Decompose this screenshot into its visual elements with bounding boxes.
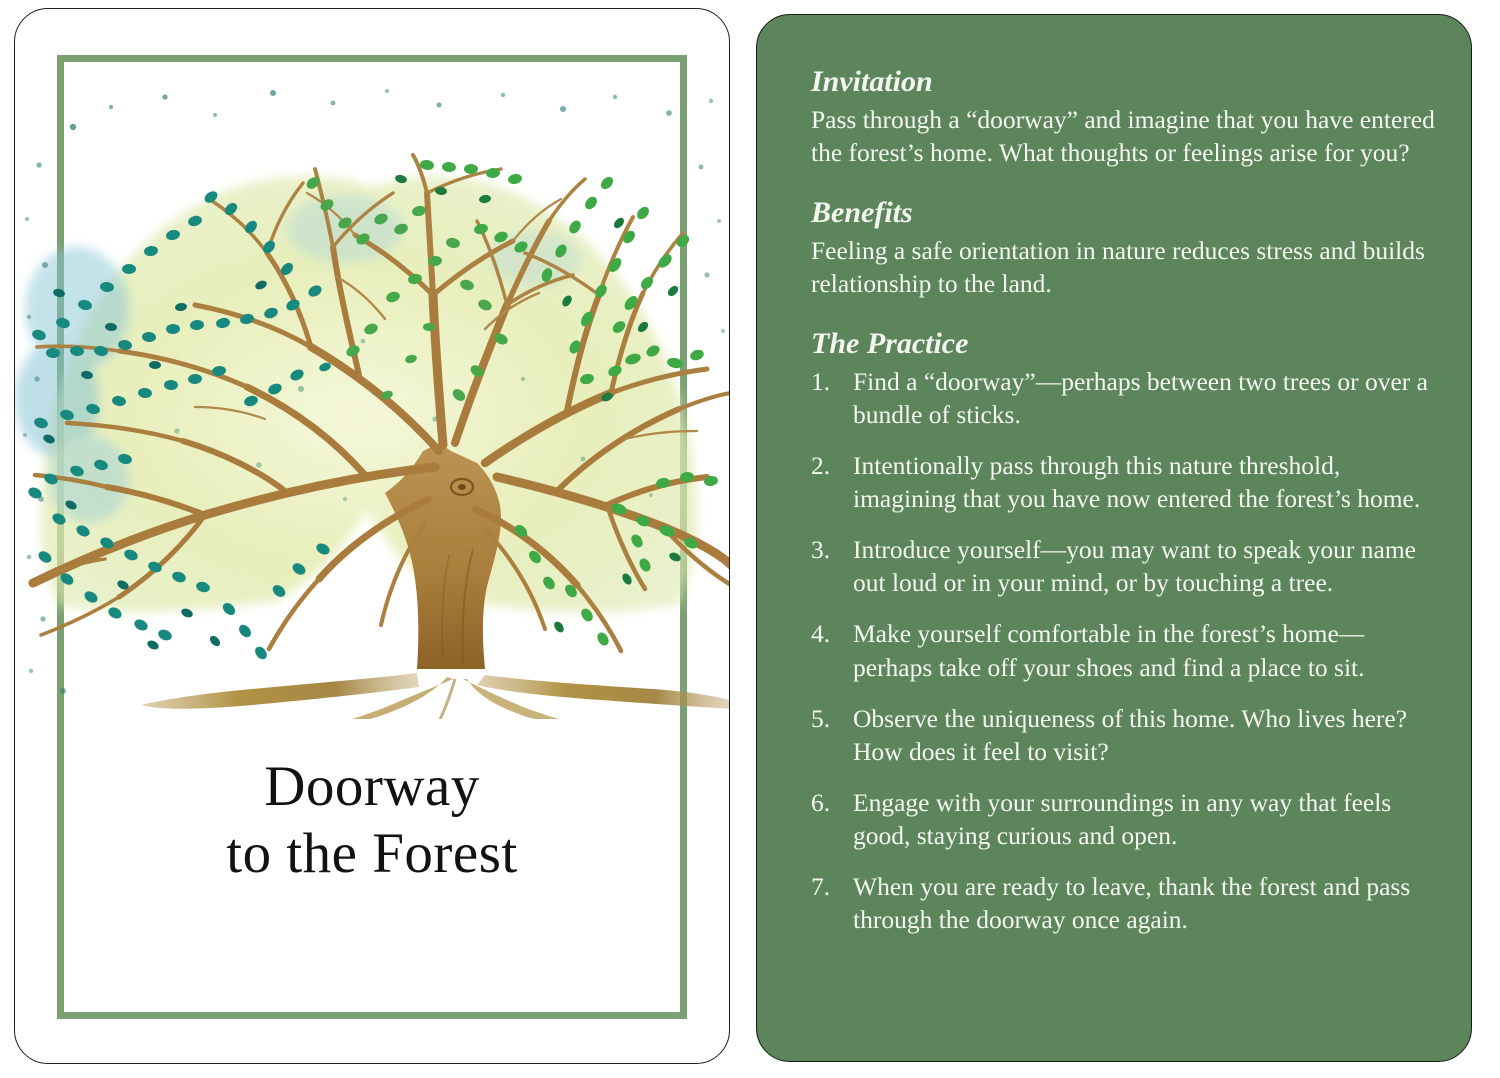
practice-step: 6.Engage with your surroundings in any w…	[811, 786, 1437, 852]
practice-step-text: When you are ready to leave, thank the f…	[853, 870, 1437, 936]
card-back: Invitation Pass through a “doorway” and …	[756, 14, 1472, 1062]
practice-step-number: 2.	[811, 449, 853, 515]
practice-step-text: Introduce yourself—you may want to speak…	[853, 533, 1437, 599]
section-heading-invitation: Invitation	[811, 65, 1437, 98]
section-invitation: Invitation Pass through a “doorway” and …	[811, 65, 1437, 170]
practice-step-number: 3.	[811, 533, 853, 599]
card-front: Doorway to the Forest	[14, 8, 730, 1064]
practice-steps-list: 1.Find a “doorway”—perhaps between two t…	[811, 365, 1437, 937]
card-title-line-1: Doorway	[15, 754, 729, 821]
practice-step: 7.When you are ready to leave, thank the…	[811, 870, 1437, 936]
section-benefits: Benefits Feeling a safe orientation in n…	[811, 196, 1437, 301]
practice-step: 5.Observe the uniqueness of this home. W…	[811, 702, 1437, 768]
practice-step: 2.Intentionally pass through this nature…	[811, 449, 1437, 515]
section-heading-benefits: Benefits	[811, 196, 1437, 229]
practice-step: 4.Make yourself comfortable in the fores…	[811, 617, 1437, 683]
practice-step: 3.Introduce yourself—you may want to spe…	[811, 533, 1437, 599]
watercolor-tree-illustration	[15, 79, 730, 719]
section-body-invitation: Pass through a “doorway” and imagine tha…	[811, 103, 1437, 170]
section-body-benefits: Feeling a safe orientation in nature red…	[811, 234, 1437, 301]
practice-step-text: Engage with your surroundings in any way…	[853, 786, 1437, 852]
card-title-line-2: to the Forest	[15, 821, 729, 888]
practice-step: 1.Find a “doorway”—perhaps between two t…	[811, 365, 1437, 431]
practice-step-text: Intentionally pass through this nature t…	[853, 449, 1437, 515]
section-heading-the-practice: The Practice	[811, 327, 1437, 360]
practice-step-text: Find a “doorway”—perhaps between two tre…	[853, 365, 1437, 431]
practice-step-number: 5.	[811, 702, 853, 768]
practice-step-number: 6.	[811, 786, 853, 852]
card-title: Doorway to the Forest	[15, 754, 729, 887]
practice-step-text: Make yourself comfortable in the forest’…	[853, 617, 1437, 683]
practice-step-text: Observe the uniqueness of this home. Who…	[853, 702, 1437, 768]
section-the-practice: The Practice 1.Find a “doorway”—perhaps …	[811, 327, 1437, 937]
practice-step-number: 7.	[811, 870, 853, 936]
practice-step-number: 4.	[811, 617, 853, 683]
practice-step-number: 1.	[811, 365, 853, 431]
card-pair-image: Doorway to the Forest Invitation Pass th…	[0, 0, 1500, 1078]
